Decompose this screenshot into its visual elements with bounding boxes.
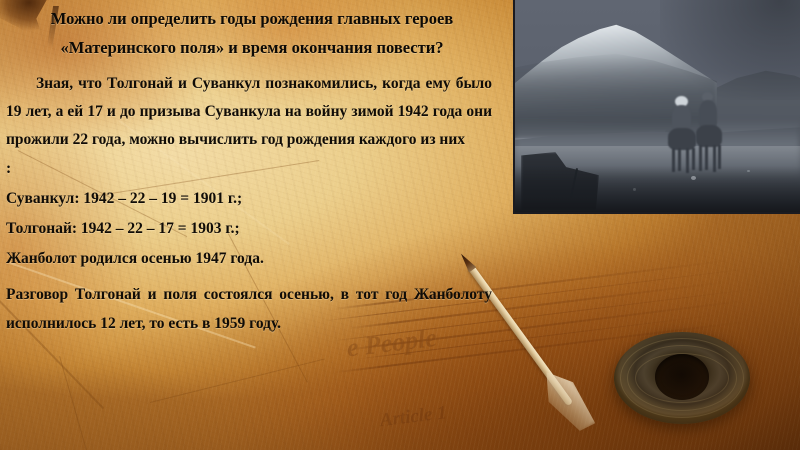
photo-snow-mountain-shadow xyxy=(513,52,717,138)
photo-speck xyxy=(747,170,750,172)
photo-corner-shading xyxy=(660,0,800,100)
photo-far-mountain xyxy=(665,42,800,162)
photo-mist xyxy=(515,120,800,180)
photo-cart xyxy=(521,152,599,210)
calculation-line-zhanbolot: Жанболот родился осенью 1947 года. xyxy=(0,244,500,274)
slide-text-block: Можно ли определить годы рождения главны… xyxy=(0,0,500,338)
calculation-line-tolgonai: Толгонай: 1942 – 22 – 17 = 1903 г.; xyxy=(0,214,500,244)
mountain-riders-photo xyxy=(513,0,800,214)
page-title: Можно ли определить годы рождения главны… xyxy=(0,0,500,62)
photo-mid-ridge xyxy=(515,118,800,170)
slide-canvas: e People Article 1 xyxy=(0,0,800,450)
photo-sky xyxy=(515,0,800,212)
parchment-crack xyxy=(150,358,325,403)
colon-line: : xyxy=(0,154,500,184)
intro-paragraph: Зная, что Толгонай и Суванкул познакомил… xyxy=(0,62,500,154)
photo-bottom-shading xyxy=(515,166,800,212)
photo-speck xyxy=(691,176,696,180)
inkwell-icon xyxy=(614,332,750,424)
photo-speck xyxy=(633,188,636,191)
photo-foreground xyxy=(515,146,800,214)
photo-cart-pole xyxy=(570,168,578,198)
parchment-crack xyxy=(59,356,93,450)
photo-snow-mountain xyxy=(513,18,717,130)
conclusion-paragraph: Разговор Толгонай и поля состоялся осень… xyxy=(0,274,500,338)
photo-rider-left xyxy=(667,96,697,172)
calculation-line-suvankul: Суванкул: 1942 – 22 – 19 = 1901 г.; xyxy=(0,184,500,214)
photo-rider-right xyxy=(695,92,725,172)
